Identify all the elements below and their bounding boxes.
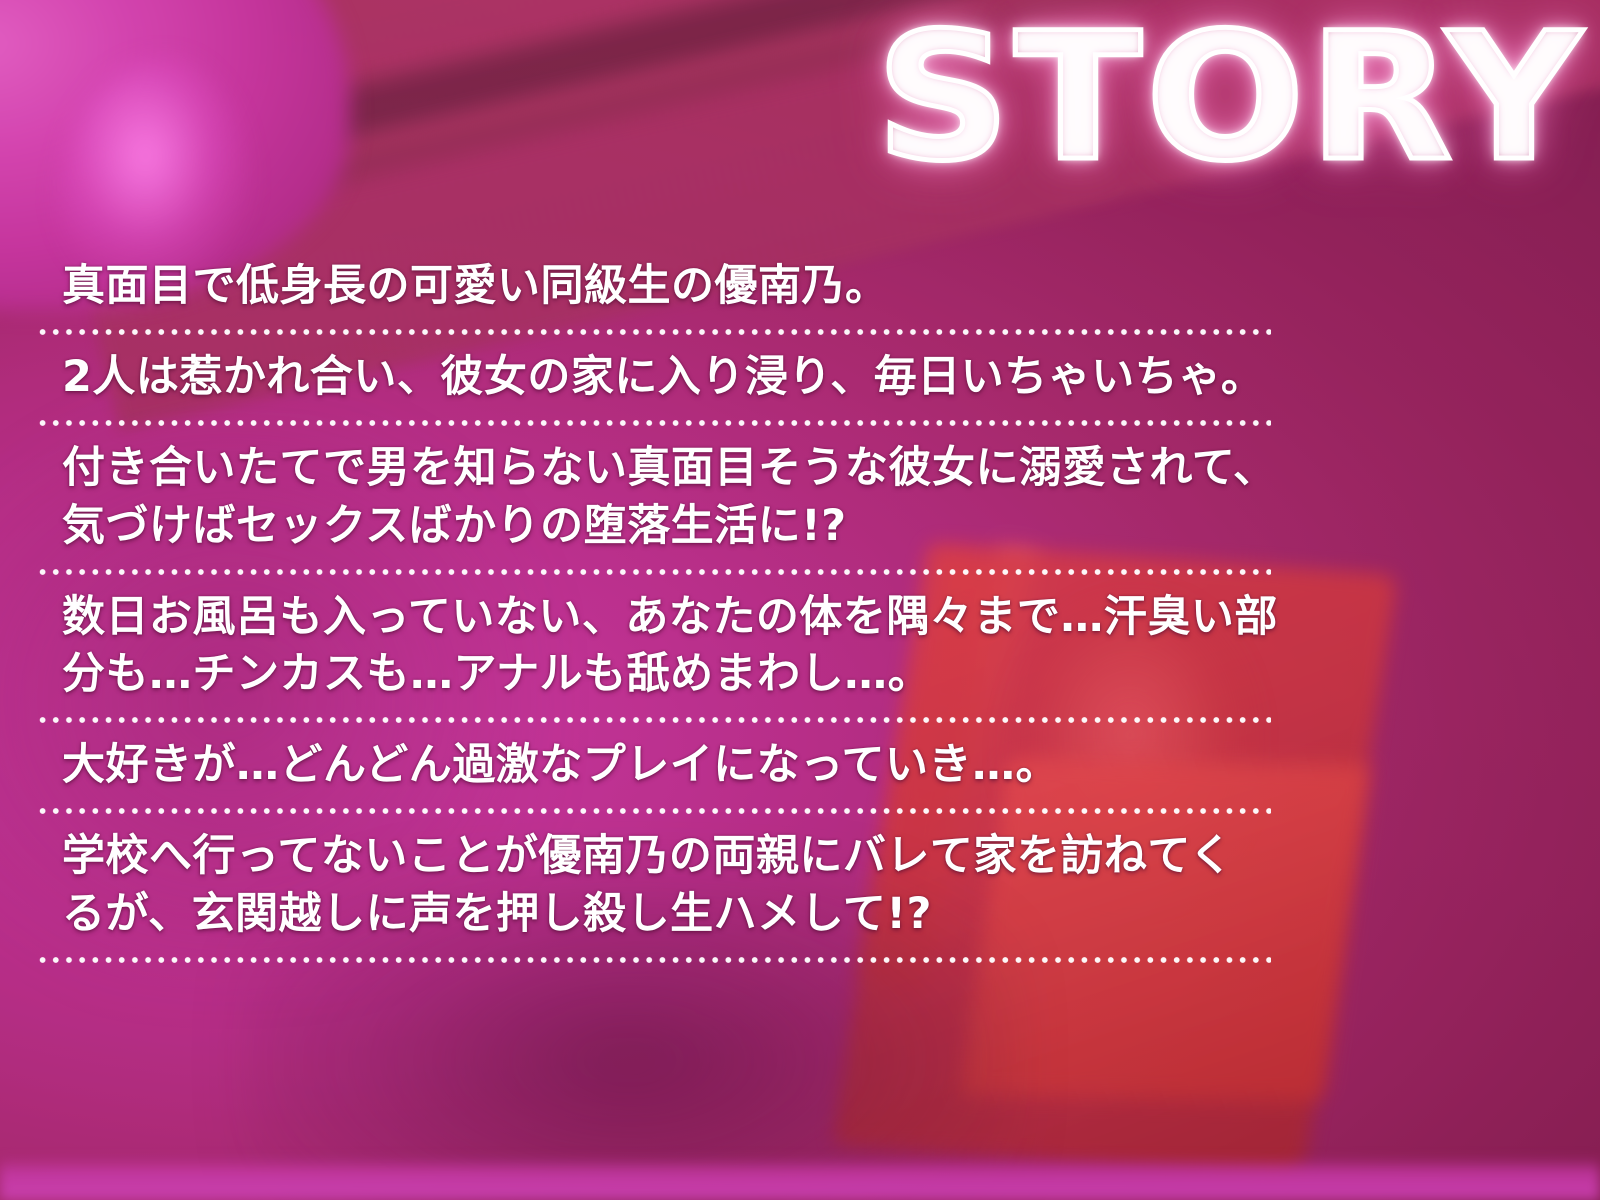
story-panel: STORY 真面目で低身長の可愛い同級生の優南乃。2人は惹かれ合い、彼女の家に入… — [0, 0, 1600, 1200]
story-block: 2人は惹かれ合い、彼女の家に入り浸り、毎日いちゃいちゃ。 — [0, 349, 1600, 406]
story-line: 2人は惹かれ合い、彼女の家に入り浸り、毎日いちゃいちゃ。 — [62, 349, 1600, 406]
separator-dots — [36, 420, 1271, 426]
story-line: 気づけばセックスばかりの堕落生活に!? — [62, 498, 1600, 555]
story-block: 付き合いたてで男を知らない真面目そうな彼女に溺愛されて、気づけばセックスばかりの… — [0, 440, 1600, 554]
story-block: 学校へ行ってないことが優南乃の両親にバレて家を訪ねてくるが、玄関越しに声を押し殺… — [0, 828, 1600, 942]
dotted-separator — [36, 703, 1271, 737]
separator-dots — [36, 569, 1271, 575]
story-line: 数日お風呂も入っていない、あなたの体を隅々まで…汗臭い部 — [62, 589, 1600, 646]
story-block: 大好きが…どんどん過激なプレイになっていき…。 — [0, 737, 1600, 794]
dotted-separator — [36, 943, 1271, 977]
story-line: 真面目で低身長の可愛い同級生の優南乃。 — [62, 258, 1600, 315]
story-line: 付き合いたてで男を知らない真面目そうな彼女に溺愛されて、 — [62, 440, 1600, 497]
separator-dots — [36, 329, 1271, 335]
story-block: 数日お風呂も入っていない、あなたの体を隅々まで…汗臭い部分も…チンカスも…アナル… — [0, 589, 1600, 703]
separator-dots — [36, 717, 1271, 723]
separator-dots — [36, 808, 1271, 814]
page-title: STORY — [876, 10, 1586, 186]
story-line: 大好きが…どんどん過激なプレイになっていき…。 — [62, 737, 1600, 794]
dotted-separator — [36, 315, 1271, 349]
story-text-list: 真面目で低身長の可愛い同級生の優南乃。2人は惹かれ合い、彼女の家に入り浸り、毎日… — [0, 258, 1600, 977]
separator-dots — [36, 957, 1271, 963]
story-line: 分も…チンカスも…アナルも舐めまわし…。 — [62, 646, 1600, 703]
dotted-separator — [36, 555, 1271, 589]
story-title-container: STORY — [916, 0, 1586, 198]
story-line: 学校へ行ってないことが優南乃の両親にバレて家を訪ねてく — [62, 828, 1600, 885]
dotted-separator — [36, 406, 1271, 440]
story-line: るが、玄関越しに声を押し殺し生ハメして!? — [62, 886, 1600, 943]
story-block: 真面目で低身長の可愛い同級生の優南乃。 — [0, 258, 1600, 315]
dotted-separator — [36, 794, 1271, 828]
